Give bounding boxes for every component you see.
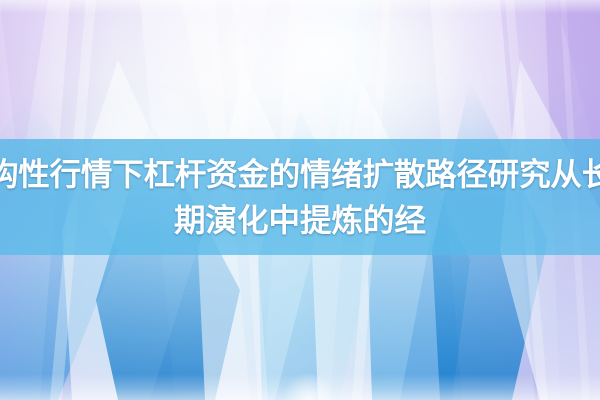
caption-line-1: 结构性行情下杠杆资金的情绪扩散路径研究从长周 — [0, 151, 600, 197]
bottom-haze — [0, 374, 600, 400]
banner-image: 结构性行情下杠杆资金的情绪扩散路径研究从长周 期演化中提炼的经 — [0, 0, 600, 400]
bottom-glint — [282, 372, 336, 400]
caption-band: 结构性行情下杠杆资金的情绪扩散路径研究从长周 期演化中提炼的经 — [0, 139, 600, 255]
top-haze — [0, 0, 600, 14]
caption-line-2: 期演化中提炼的经 — [174, 197, 426, 243]
